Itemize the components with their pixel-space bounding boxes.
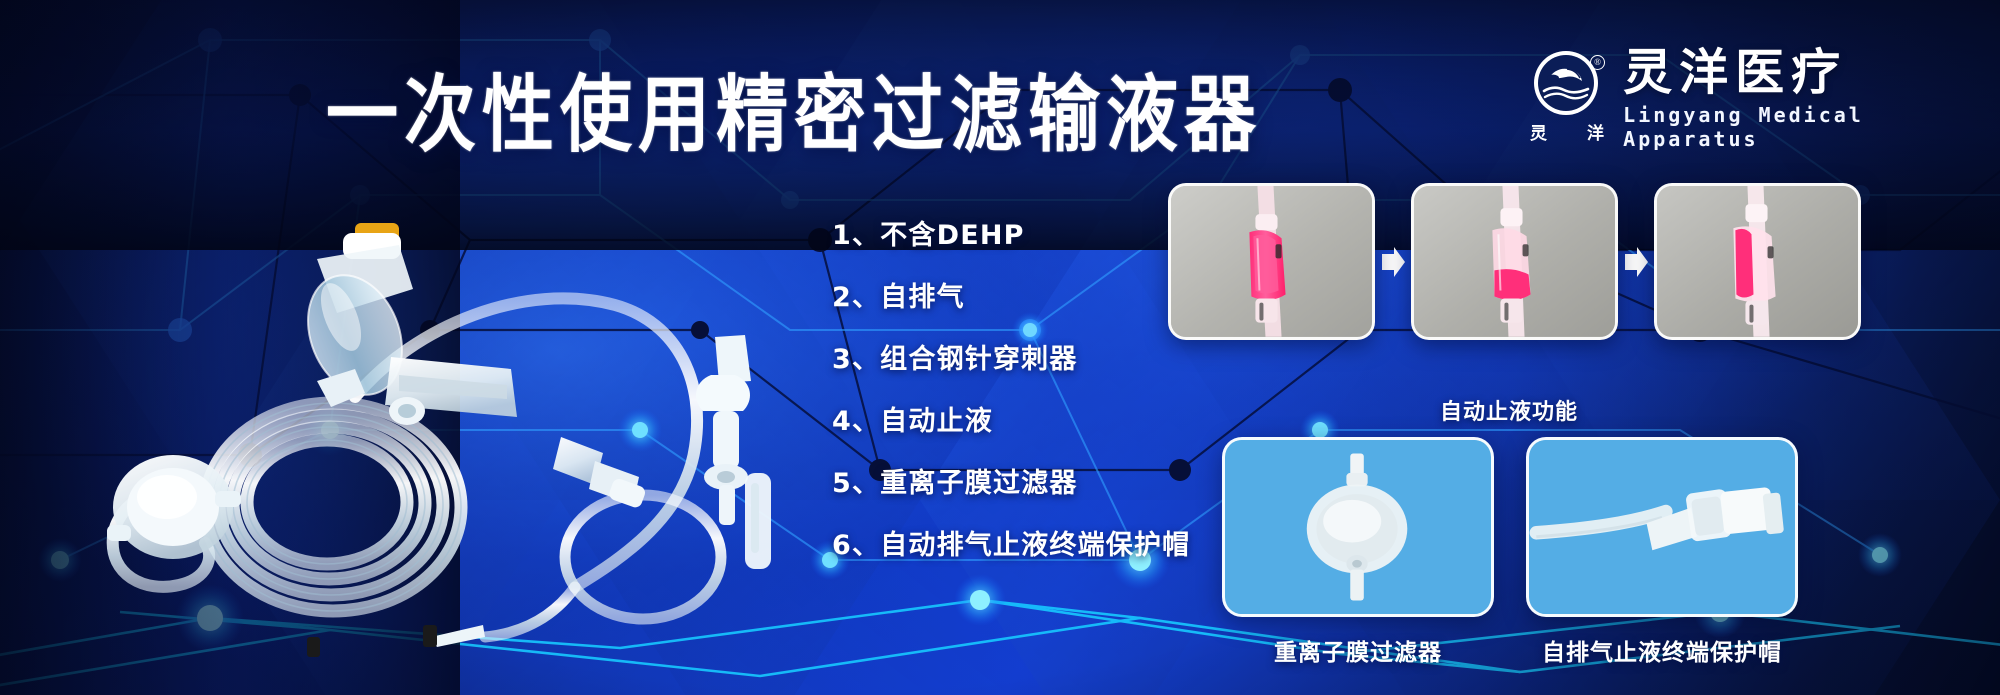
auto-stop-sequence: [1168, 183, 1861, 340]
feature-item-2: 2、自排气: [832, 284, 1190, 311]
component-card-cap: [1526, 437, 1798, 617]
brand-seal-caption: 灵 洋: [1530, 119, 1604, 144]
sequence-arrow-2: [1618, 245, 1654, 279]
chamber-draining-illustration: [1414, 186, 1615, 337]
component-cards: [1222, 437, 1798, 617]
seal-icon: [1534, 51, 1598, 115]
self-venting-terminal-protective-cap-icon: [1529, 440, 1795, 614]
component-caption-filter: 重离子膜过滤器: [1222, 633, 1494, 667]
product-banner: 一次性使用精密过滤输液器 ® 灵 洋 灵洋医疗: [0, 0, 2000, 695]
registered-trademark-icon: ®: [1590, 55, 1605, 70]
component-card-filter: [1222, 437, 1494, 617]
seal-caption-right: 洋: [1587, 119, 1604, 144]
feature-item-3: 3、组合钢针穿刺器: [832, 346, 1190, 373]
seal-wave-icon: [1534, 51, 1598, 115]
feature-list: 1、不含DEHP 2、自排气 3、组合钢针穿刺器 4、自动止液 5、重离子膜过滤…: [832, 222, 1190, 559]
feature-item-4: 4、自动止液: [832, 408, 1190, 435]
sequence-photo-2: [1411, 183, 1618, 340]
roller-clamp: [385, 357, 517, 425]
sequence-photo-3: [1654, 183, 1861, 340]
chamber-full-illustration: [1171, 186, 1372, 337]
feature-item-1: 1、不含DEHP: [832, 222, 1190, 249]
brand-name-cn: 灵洋医疗: [1623, 47, 2000, 99]
inline-connector: [553, 437, 647, 509]
brand-name-en: Lingyang Medical Apparatus: [1623, 103, 2000, 151]
protective-cap: [745, 473, 771, 569]
brand-logo: ® 灵 洋 灵洋医疗 Lingyang Medical Apparatus: [1530, 47, 2000, 151]
right-arrow-icon: [1623, 245, 1649, 279]
needle-assembly: [696, 335, 751, 525]
feature-item-6: 6、自动排气止液终端保护帽: [832, 532, 1190, 559]
brand-mark: ® 灵 洋: [1530, 51, 1605, 147]
feature-item-5: 5、重离子膜过滤器: [832, 470, 1190, 497]
infusion-set-illustration: [55, 185, 795, 645]
sequence-caption: 自动止液功能: [1440, 394, 1578, 426]
component-caption-cap: 自排气止液终端保护帽: [1526, 633, 1798, 667]
seal-caption-left: 灵: [1530, 119, 1547, 144]
right-arrow-icon: [1380, 245, 1406, 279]
chamber-stopped-illustration: [1657, 186, 1858, 337]
component-captions: 重离子膜过滤器 自排气止液终端保护帽: [1222, 633, 1798, 667]
sequence-arrow-1: [1375, 245, 1411, 279]
distal-needle: [307, 625, 485, 657]
banner-title: 一次性使用精密过滤输液器: [326, 46, 1262, 168]
heavy-ion-membrane-filter-icon: [1225, 440, 1491, 614]
product-hero-image: [55, 185, 795, 645]
brand-text: 灵洋医疗 Lingyang Medical Apparatus: [1623, 47, 2000, 151]
sequence-photo-1: [1168, 183, 1375, 340]
